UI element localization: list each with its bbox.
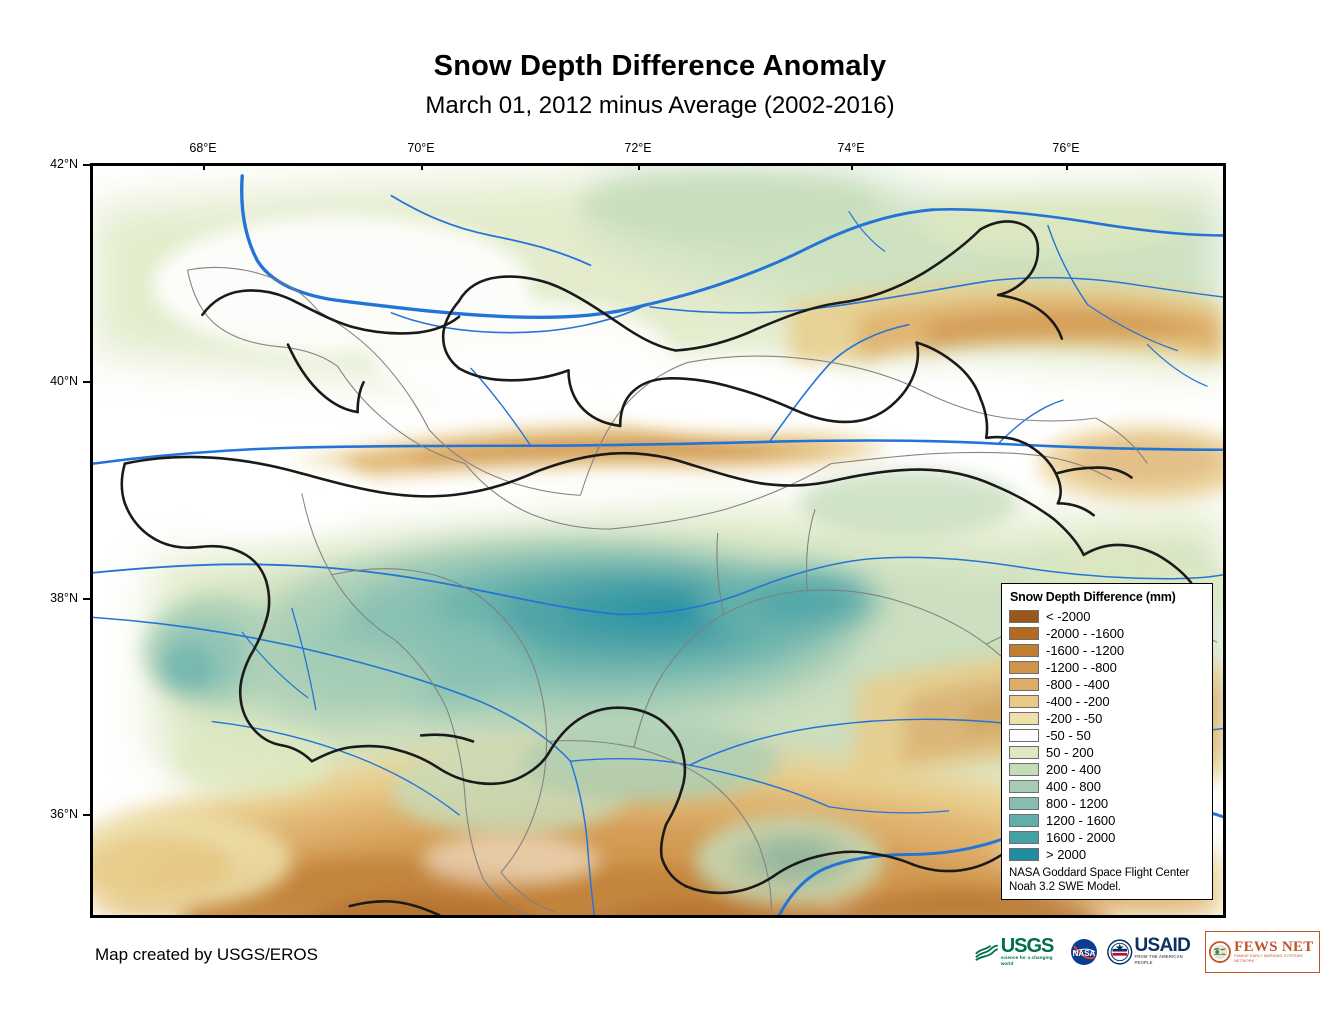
legend-color-swatch	[1009, 848, 1039, 861]
x-tick-76	[1066, 163, 1068, 170]
legend-row: -200 - -50	[1009, 710, 1206, 727]
legend-attribution: NASA Goddard Space Flight Center Noah 3.…	[1009, 867, 1206, 894]
legend-color-swatch	[1009, 814, 1039, 827]
legend-class-label: 1600 - 2000	[1046, 831, 1115, 844]
legend-attribution-line2: Noah 3.2 SWE Model.	[1009, 881, 1206, 895]
legend-class-label: > 2000	[1046, 848, 1086, 861]
legend-row: 50 - 200	[1009, 744, 1206, 761]
legend-class-label: -2000 - -1600	[1046, 627, 1124, 640]
legend-color-swatch	[1009, 712, 1039, 725]
y-label-40: 40°N	[32, 374, 78, 388]
legend-row: -1600 - -1200	[1009, 642, 1206, 659]
y-tick-40	[83, 381, 90, 383]
fews-net-wordmark: FEWS NET	[1234, 940, 1316, 954]
legend-row: -50 - 50	[1009, 727, 1206, 744]
y-label-36: 36°N	[32, 807, 78, 821]
legend-class-label: -800 - -400	[1046, 678, 1110, 691]
x-label-74: 74°E	[837, 141, 864, 155]
legend-color-swatch	[1009, 746, 1039, 759]
legend-class-label: -400 - -200	[1046, 695, 1110, 708]
usaid-logo[interactable]: USAID FROM THE AMERICAN PEOPLE	[1107, 933, 1196, 971]
fews-net-tagline: FAMINE EARLY WARNING SYSTEMS NETWORK	[1234, 954, 1316, 964]
x-tick-74	[851, 163, 853, 170]
agency-logo-row: USGS science for a changing world NASA U…	[975, 932, 1320, 972]
legend-class-list: < -2000-2000 - -1600-1600 - -1200-1200 -…	[1009, 608, 1206, 863]
legend-class-label: -50 - 50	[1046, 729, 1091, 742]
legend-row: -1200 - -800	[1009, 659, 1206, 676]
legend-color-swatch	[1009, 644, 1039, 657]
y-tick-42	[83, 164, 90, 166]
legend-row: 400 - 800	[1009, 778, 1206, 795]
legend-color-swatch	[1009, 763, 1039, 776]
y-label-38: 38°N	[32, 591, 78, 605]
x-tick-72	[638, 163, 640, 170]
map-legend: Snow Depth Difference (mm) < -2000-2000 …	[1001, 583, 1213, 900]
legend-title: Snow Depth Difference (mm)	[1010, 590, 1206, 604]
usaid-wordmark: USAID	[1135, 938, 1197, 954]
x-label-72: 72°E	[624, 141, 651, 155]
nasa-logo[interactable]: NASA	[1070, 933, 1098, 971]
usgs-wordmark: USGS	[1001, 938, 1061, 955]
fews-net-logo[interactable]: FEWS NET FAMINE EARLY WARNING SYSTEMS NE…	[1205, 931, 1320, 973]
legend-color-swatch	[1009, 627, 1039, 640]
legend-class-label: 200 - 400	[1046, 763, 1101, 776]
legend-class-label: 1200 - 1600	[1046, 814, 1115, 827]
x-tick-68	[203, 163, 205, 170]
legend-class-label: -1600 - -1200	[1046, 644, 1124, 657]
usgs-wave-icon	[975, 941, 999, 963]
legend-attribution-line1: NASA Goddard Space Flight Center	[1009, 867, 1206, 881]
legend-row: -800 - -400	[1009, 676, 1206, 693]
page-subtitle: March 01, 2012 minus Average (2002-2016)	[0, 92, 1320, 120]
legend-row: 1600 - 2000	[1009, 829, 1206, 846]
x-tick-70	[421, 163, 423, 170]
legend-color-swatch	[1009, 661, 1039, 674]
legend-class-label: -200 - -50	[1046, 712, 1102, 725]
legend-color-swatch	[1009, 797, 1039, 810]
map-credit: Map created by USGS/EROS	[95, 945, 318, 965]
legend-row: 800 - 1200	[1009, 795, 1206, 812]
usgs-tagline: science for a changing world	[1001, 955, 1061, 967]
legend-row: -2000 - -1600	[1009, 625, 1206, 642]
legend-class-label: 800 - 1200	[1046, 797, 1108, 810]
legend-class-label: 400 - 800	[1046, 780, 1101, 793]
svg-text:NASA: NASA	[1073, 949, 1096, 958]
legend-color-swatch	[1009, 610, 1039, 623]
page-title: Snow Depth Difference Anomaly	[0, 50, 1320, 83]
legend-row: 1200 - 1600	[1009, 812, 1206, 829]
legend-row: < -2000	[1009, 608, 1206, 625]
legend-row: 200 - 400	[1009, 761, 1206, 778]
legend-color-swatch	[1009, 695, 1039, 708]
nasa-meatball-icon: NASA	[1070, 938, 1098, 966]
x-label-70: 70°E	[407, 141, 434, 155]
y-tick-36	[83, 814, 90, 816]
x-label-76: 76°E	[1052, 141, 1079, 155]
x-label-68: 68°E	[189, 141, 216, 155]
legend-class-label: < -2000	[1046, 610, 1090, 623]
legend-color-swatch	[1009, 780, 1039, 793]
legend-color-swatch	[1009, 678, 1039, 691]
legend-color-swatch	[1009, 831, 1039, 844]
usaid-seal-icon	[1107, 938, 1133, 966]
usgs-logo[interactable]: USGS science for a changing world	[975, 933, 1061, 971]
y-tick-38	[83, 598, 90, 600]
y-label-42: 42°N	[32, 157, 78, 171]
fews-net-globe-icon	[1209, 940, 1231, 964]
legend-color-swatch	[1009, 729, 1039, 742]
legend-class-label: -1200 - -800	[1046, 661, 1117, 674]
legend-row: > 2000	[1009, 846, 1206, 863]
legend-class-label: 50 - 200	[1046, 746, 1094, 759]
legend-row: -400 - -200	[1009, 693, 1206, 710]
